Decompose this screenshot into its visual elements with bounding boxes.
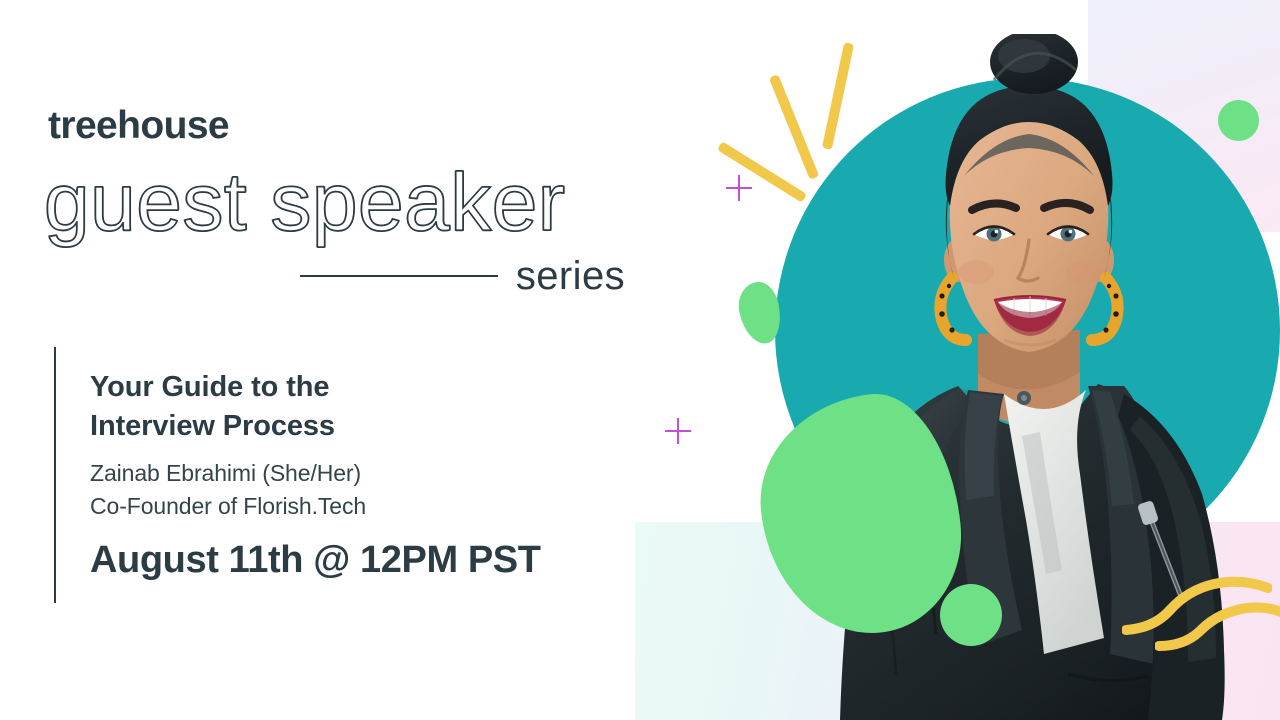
event-date: August 11th @ 12PM PST xyxy=(90,540,630,582)
promo-slide: treehouse guest speaker series Your Guid… xyxy=(0,0,1280,720)
talk-title-line1: Your Guide to the xyxy=(90,368,630,407)
yellow-sparkle-stroke-icon xyxy=(769,74,819,180)
series-divider xyxy=(300,275,498,277)
green-dot-large-icon xyxy=(940,584,1002,646)
speaker-name: Zainab Ebrahimi (She/Her) xyxy=(90,457,630,490)
speaker-role: Co-Founder of Florish.Tech xyxy=(90,490,630,523)
talk-title-line2: Interview Process xyxy=(90,407,630,446)
headline-series: series xyxy=(516,256,625,296)
vertical-accent-bar xyxy=(54,347,56,603)
talk-info-block: Your Guide to the Interview Process Zain… xyxy=(90,368,630,582)
headline-main: guest speaker xyxy=(44,162,566,244)
series-row: series xyxy=(300,256,625,296)
brand-name: treehouse xyxy=(48,106,229,145)
yellow-squiggle-line-icon xyxy=(1155,598,1280,658)
magenta-plus-icon xyxy=(726,175,752,201)
magenta-plus-icon xyxy=(665,418,691,444)
